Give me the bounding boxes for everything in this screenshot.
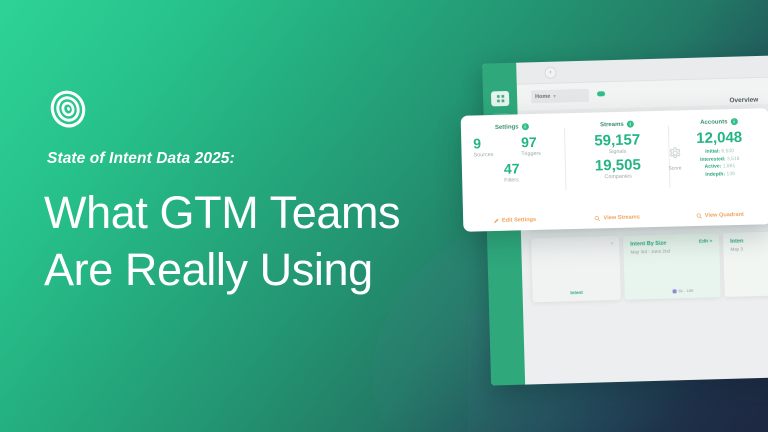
grid-icon[interactable] (491, 91, 509, 106)
view-streams-button[interactable]: View Streams (566, 214, 669, 223)
spiral-logo-icon (47, 88, 89, 130)
stat-label: Signals (566, 148, 670, 157)
card-title: Inten (730, 237, 768, 245)
stat-column-title: Streams (600, 121, 624, 128)
home-select-label: Home (535, 93, 550, 99)
status-badge (597, 91, 605, 96)
stat-sources: 9 Sources (473, 136, 493, 158)
info-icon[interactable]: i (730, 118, 737, 125)
score-label: Score (663, 165, 687, 172)
stat-value: 47 (504, 160, 566, 177)
stat-value: 59,157 (565, 132, 669, 150)
close-icon[interactable]: × (610, 241, 613, 247)
stat-column-header: Settings i (495, 122, 565, 131)
breakdown-value: 139 (726, 171, 734, 177)
info-icon[interactable]: i (522, 123, 529, 130)
action-label: View Quadrant (705, 212, 744, 219)
edit-settings-button[interactable]: Edit Settings (463, 216, 566, 225)
hero-headline: What GTM Teams Are Really Using (44, 184, 400, 298)
stat-row: 9 Sources 97 Triggers (473, 134, 566, 158)
breakdown-label: Interested: (700, 156, 726, 163)
stat-companies: 19,505 Companies (566, 157, 671, 182)
card-center-tag: Intent (570, 290, 583, 295)
page-title: Overview (729, 97, 758, 105)
card-date-range: May 3rd - June 2nd (630, 247, 712, 254)
stat-value: 9 (473, 136, 493, 151)
score-indicator[interactable]: Score (662, 146, 687, 172)
legend-label: 51 - 100 (679, 288, 694, 293)
info-icon[interactable]: i (627, 121, 634, 128)
action-label: View Streams (603, 214, 639, 221)
breakdown-label: Active: (705, 163, 722, 169)
gear-icon (668, 146, 681, 159)
stat-label: Companies (566, 173, 670, 182)
chart-legend: 51 - 100 (673, 288, 694, 294)
home-select[interactable]: Home ▾ (531, 89, 589, 104)
stat-value: 19,505 (566, 157, 670, 175)
stat-label: Sources (474, 152, 494, 158)
list-item[interactable]: Intent By Size May 3rd - June 2nd Edit >… (623, 233, 721, 300)
stat-column-title: Accounts (700, 119, 727, 126)
search-icon (696, 213, 702, 219)
stat-column-header: Accounts i (669, 117, 768, 126)
stat-columns: Settings i 9 Sources 97 Triggers 47 Filt… (461, 117, 768, 199)
stat-column-streams: Streams i 59,157 Signals 19,505 Companie… (565, 120, 671, 197)
breakdown-label: Initial: (705, 148, 720, 154)
action-label: Edit Settings (502, 217, 536, 224)
search-icon (594, 215, 600, 221)
edit-link[interactable]: Edit > (699, 239, 712, 244)
card-actions: Edit Settings View Streams View Quadrant (463, 211, 768, 225)
stat-column-settings: Settings i 9 Sources 97 Triggers 47 Filt… (461, 122, 567, 199)
overview-stat-card: Overview Settings i 9 Sources 97 Trigger… (461, 108, 768, 231)
list-item[interactable]: Inten May 3 (723, 231, 768, 297)
stat-column-header: Streams i (565, 120, 669, 130)
stat-value: 97 (521, 135, 541, 150)
stat-label: Filters (504, 176, 566, 184)
list-item[interactable]: × Intent (531, 236, 621, 302)
pencil-icon (493, 218, 499, 224)
legend-swatch (673, 289, 677, 293)
stat-column-title: Settings (495, 124, 519, 131)
breakdown-value: 6,530 (721, 148, 734, 154)
chevron-right-icon[interactable]: › (544, 67, 556, 79)
stat-label: Triggers (521, 151, 541, 157)
hero-content: State of Intent Data 2025: What GTM Team… (44, 0, 464, 432)
breakdown-label: Indepth: (705, 171, 725, 177)
view-quadrant-button[interactable]: View Quadrant (668, 211, 768, 220)
card-date-range: May 3 (730, 245, 768, 252)
breakdown-value: 1,861 (723, 163, 736, 169)
stat-triggers: 97 Triggers (521, 135, 541, 157)
stat-signals: 59,157 Signals (565, 132, 670, 157)
hero-kicker: State of Intent Data 2025: (47, 150, 235, 168)
stat-value: 12,048 (669, 129, 768, 146)
breakdown-value: 3,518 (727, 155, 740, 161)
chevron-down-icon: ▾ (553, 93, 556, 99)
stat-filters: 47 Filters (504, 160, 567, 184)
